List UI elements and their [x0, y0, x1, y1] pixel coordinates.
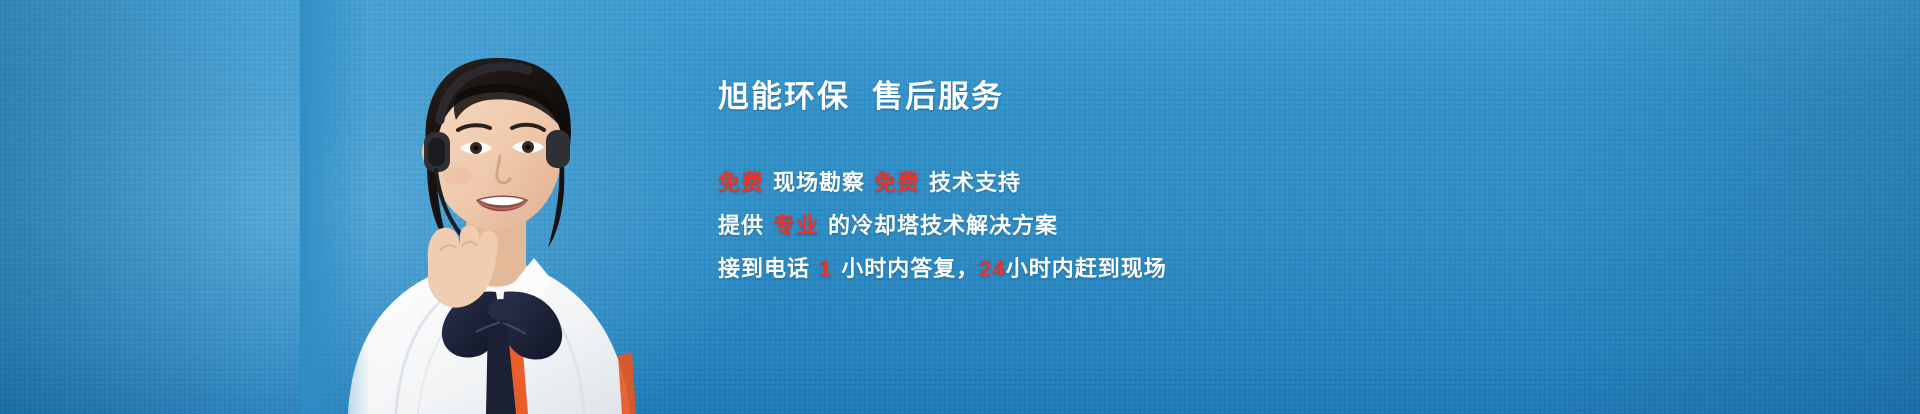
benefit-line-2: 提供专业的冷却塔技术解决方案 — [718, 204, 1618, 247]
operator-figure — [300, 0, 660, 414]
onsite-hours-value: 24 — [979, 256, 1005, 281]
brand-name: 旭能环保 — [718, 79, 850, 114]
free-badge-1: 免费 — [718, 170, 764, 195]
cooling-tower-solution-text: 的冷却塔技术解决方案 — [828, 213, 1058, 238]
provide-text: 提供 — [718, 213, 764, 238]
response-hours-value: 1 — [819, 256, 832, 281]
free-badge-2: 免费 — [874, 170, 920, 195]
professional-badge: 专业 — [773, 213, 819, 238]
service-banner: 旭能环保售后服务 免费现场勘察免费技术支持 提供专业的冷却塔技术解决方案 接到电… — [0, 0, 1920, 414]
site-survey-text: 现场勘察 — [773, 170, 865, 195]
banner-copy: 旭能环保售后服务 免费现场勘察免费技术支持 提供专业的冷却塔技术解决方案 接到电… — [718, 78, 1618, 290]
page-title: 旭能环保售后服务 — [718, 78, 1618, 115]
arrive-onsite-text: 小时内赶到现场 — [1006, 256, 1167, 281]
benefit-line-1: 免费现场勘察免费技术支持 — [718, 161, 1618, 204]
operator-illustration — [300, 0, 660, 414]
call-received-text: 接到电话 — [718, 256, 810, 281]
benefit-lines: 免费现场勘察免费技术支持 提供专业的冷却塔技术解决方案 接到电话1小时内答复，2… — [718, 161, 1618, 290]
benefit-line-3: 接到电话1小时内答复，24小时内赶到现场 — [718, 247, 1618, 290]
tech-support-text: 技术支持 — [929, 170, 1021, 195]
reply-within-text: 小时内答复， — [841, 256, 979, 281]
service-label: 售后服务 — [872, 79, 1004, 114]
